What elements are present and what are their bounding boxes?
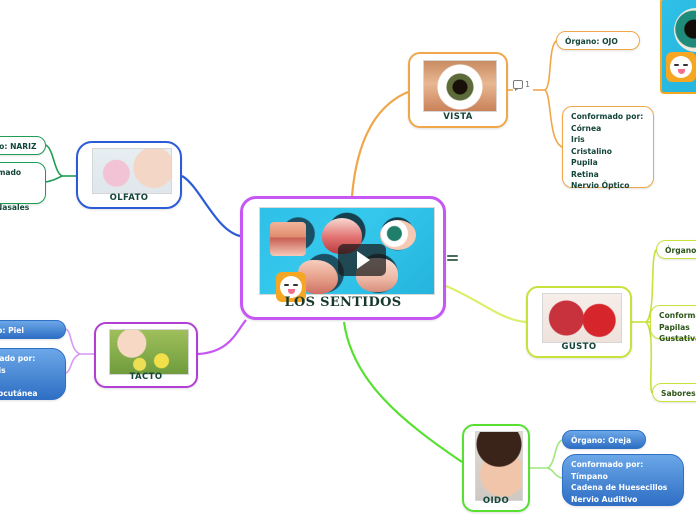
comment-icon [513,80,523,89]
olfato-image [92,148,172,194]
branch-node-gusto[interactable]: GUSTO [526,286,632,358]
leaf-organo-lengua[interactable]: Órgano: Lengua [656,240,696,259]
comment-badge[interactable]: 1 [513,80,530,89]
play-button[interactable] [338,244,386,276]
vista-label: VISTA [410,112,506,122]
vista-image [423,60,497,112]
branch-node-tacto[interactable]: TACTO [94,322,198,388]
branch-node-olfato[interactable]: OLFATO [76,141,182,209]
tacto-label: TACTO [96,372,196,382]
leaf-ojo-conformado[interactable]: Conformado por: Córnea Iris Cristalino P… [562,106,654,188]
leaf-organo-ojo[interactable]: Órgano: OJO [556,31,640,50]
tacto-image [109,329,189,375]
leaf-oido-conformado[interactable]: Conformado por: Tímpano Cadena de Huesec… [562,454,684,506]
leaf-organo-piel[interactable]: Órgano: Piel [0,320,66,339]
leaf-organo-nariz[interactable]: Órgano: NARIZ [0,136,46,155]
comment-count: 1 [525,80,530,89]
branch-node-vista[interactable]: VISTA [408,52,508,128]
central-video-thumbnail [259,207,435,295]
oido-image [475,431,523,501]
leaf-nariz-conformado[interactable]: Conformado por: Fosa Fosas Nasales [0,162,46,204]
skin-layer-illustration [270,222,306,256]
central-node[interactable]: LOS SENTIDOS [240,196,446,320]
eye-thumbnail-icon [674,8,696,52]
hamburger-icon[interactable] [447,255,458,264]
top-right-thumbnail[interactable] [660,0,696,94]
smiley-face-icon [666,52,696,82]
gusto-label: GUSTO [528,342,630,352]
gusto-image [542,293,622,343]
eye-illustration [380,220,416,250]
central-title: LOS SENTIDOS [243,295,443,310]
olfato-label: OLFATO [78,193,180,203]
oido-label: OIDO [464,496,528,506]
leaf-sabores[interactable]: Sabores [652,383,696,402]
leaf-piel-conformado[interactable]: Conformado por: Epidermis Dermis Capa Su… [0,348,66,400]
leaf-organo-oreja[interactable]: Órgano: Oreja [562,430,646,449]
mindmap-canvas: LOS SENTIDOS VISTA 1 Órgano: OJO Conform… [0,0,696,520]
leaf-lengua-conformado[interactable]: Conformado por: Papilas Gustativas [650,305,696,339]
branch-node-oido[interactable]: OIDO [462,424,530,512]
